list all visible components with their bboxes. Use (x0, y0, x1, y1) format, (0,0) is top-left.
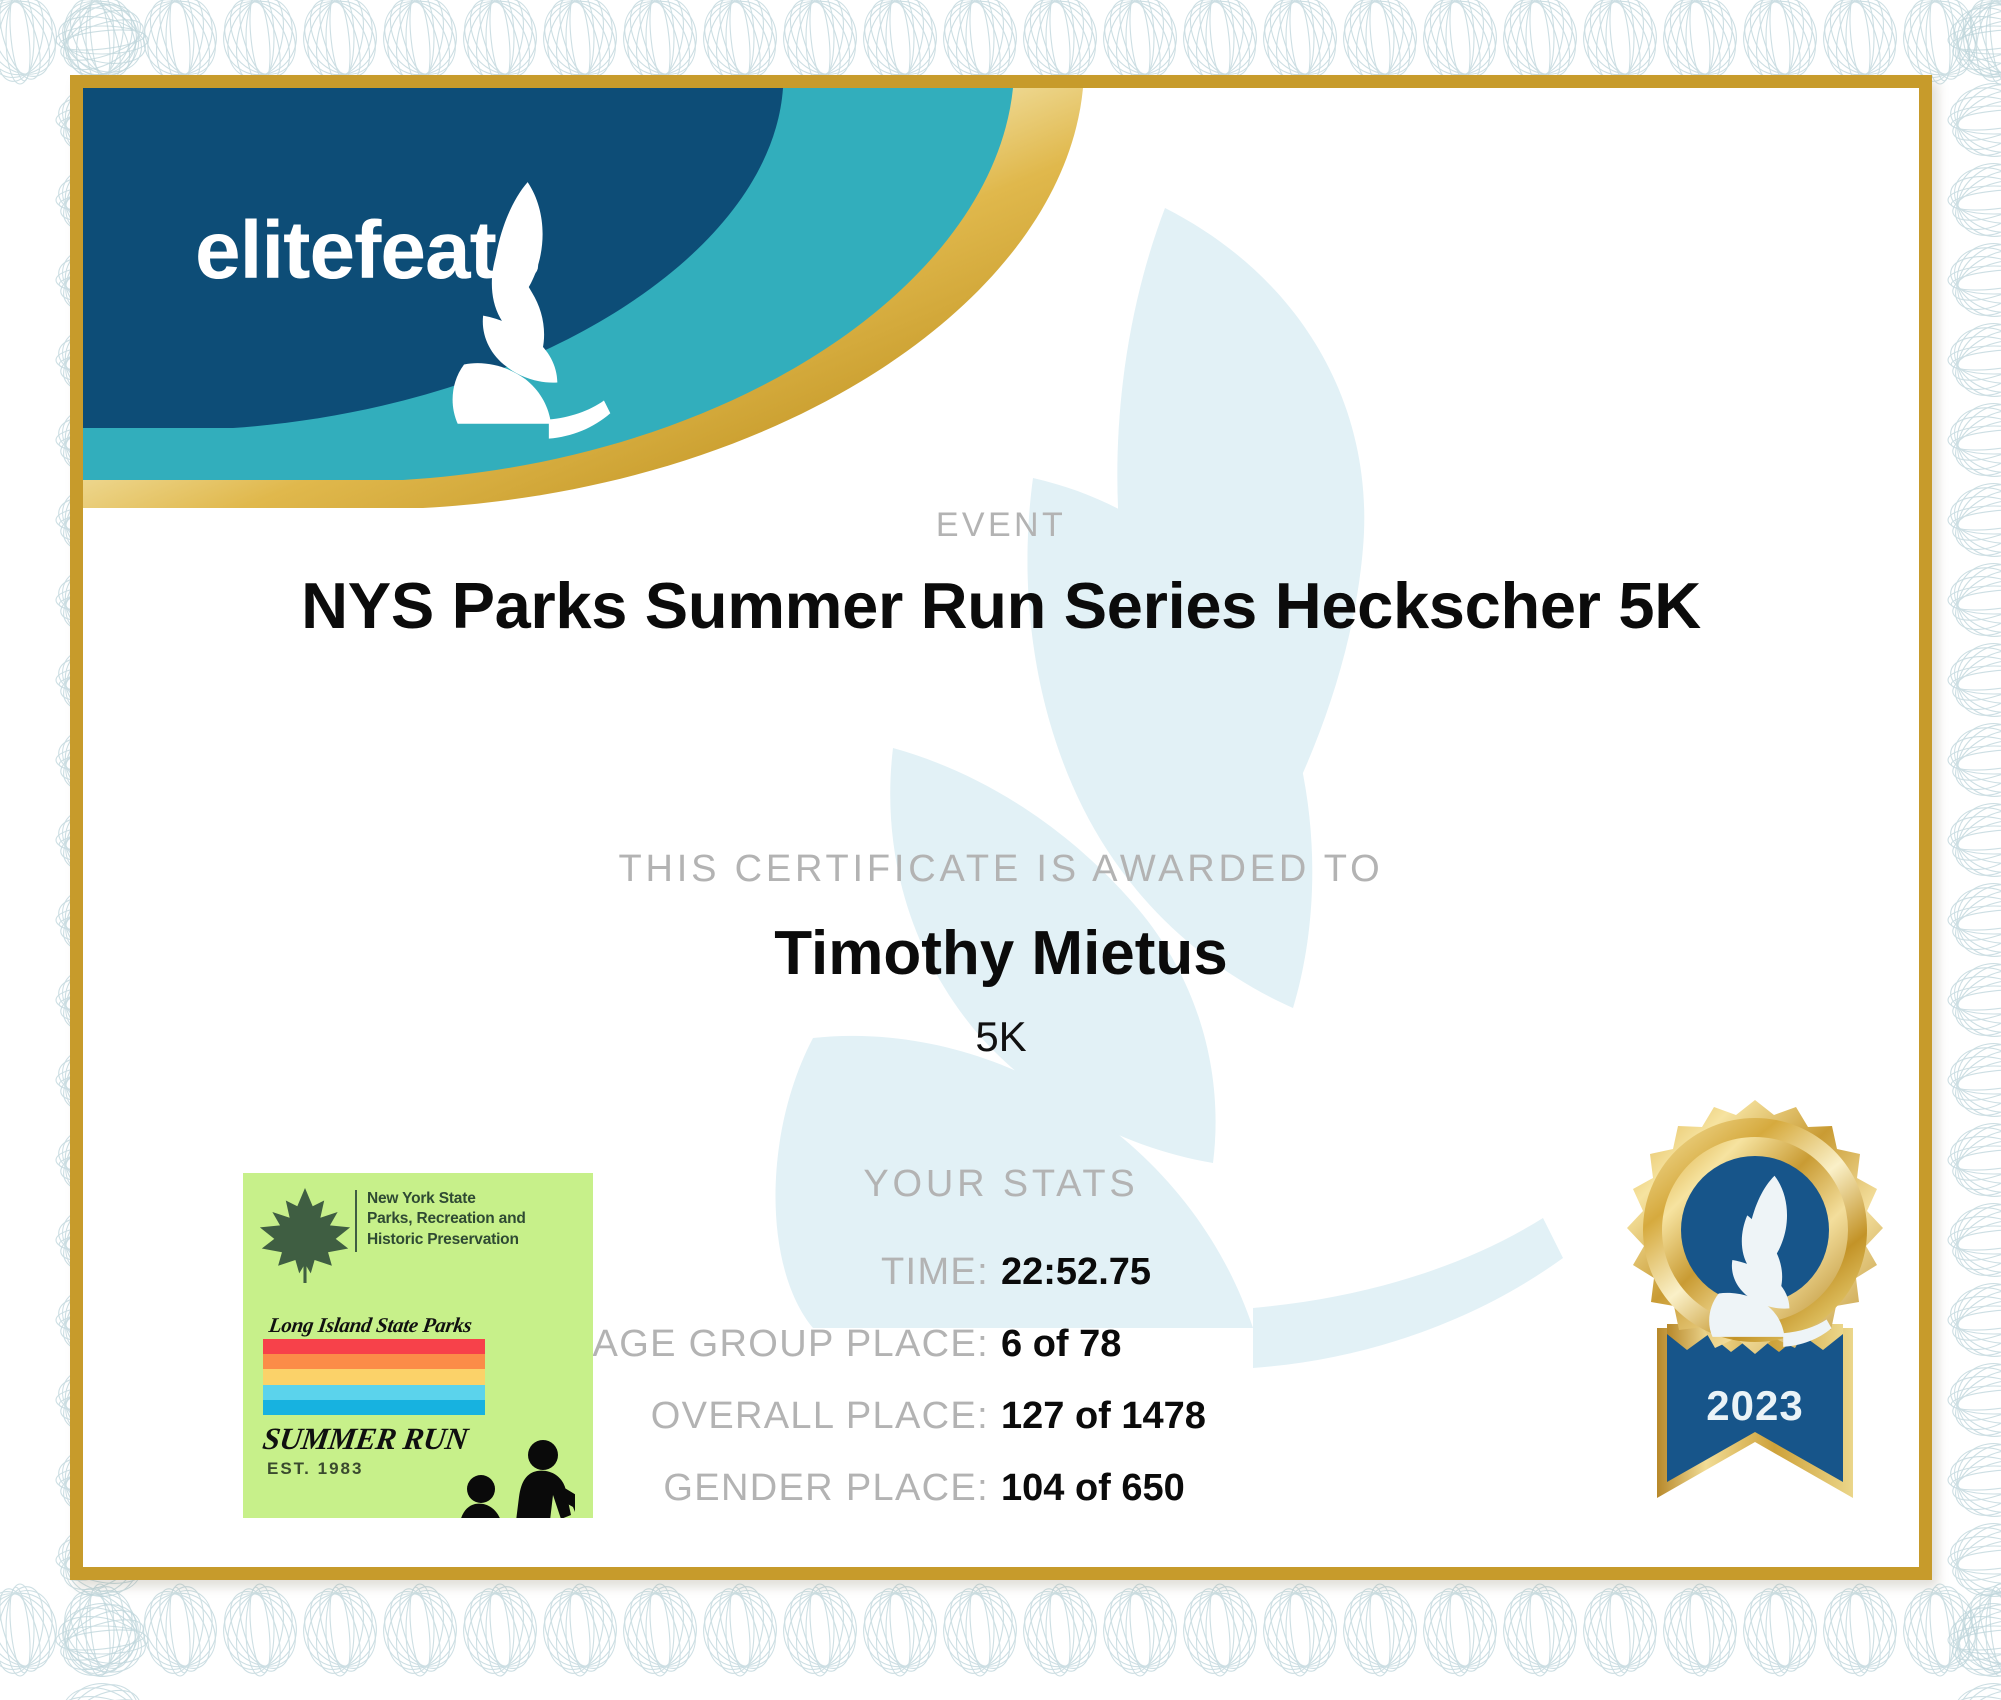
summer-run-badge: Long Island State Parks SUMMER RUN EST. … (261, 1313, 571, 1508)
agency-line-3: Historic Preservation (367, 1230, 526, 1250)
certificate-page: elitefeats EVENT NYS Parks Summer Run Se… (0, 0, 2001, 1700)
finisher-medal-rosette: 2023 (1605, 1098, 1905, 1568)
caption-line-1: FINISHER (1585, 1566, 1925, 1580)
finisher-certificate-caption: FINISHER CERTIFICATE (1585, 1566, 1925, 1580)
event-title: NYS Parks Summer Run Series Heckscher 5K (83, 568, 1919, 643)
certificate-content: EVENT NYS Parks Summer Run Series Hecksc… (83, 88, 1919, 1567)
agency-name: New York State Parks, Recreation and His… (367, 1185, 526, 1250)
agency-line-1: New York State (367, 1189, 526, 1209)
runners-silhouette-icon (425, 1435, 575, 1518)
stat-value-overall-place: 127 of 1478 (1001, 1395, 1656, 1438)
agency-line-2: Parks, Recreation and (367, 1209, 526, 1229)
recipient-name: Timothy Mietus (83, 918, 1919, 989)
stat-value-age-group-place: 6 of 78 (1001, 1323, 1656, 1366)
stat-value-gender-place: 104 of 650 (1001, 1467, 1656, 1510)
awarded-to-label: THIS CERTIFICATE IS AWARDED TO (83, 848, 1919, 891)
logo-divider (355, 1190, 357, 1252)
event-label: EVENT (83, 506, 1919, 545)
nys-parks-summer-run-logo: New York State Parks, Recreation and His… (243, 1173, 593, 1518)
series-name: Long Island State Parks (267, 1313, 473, 1338)
race-distance: 5K (83, 1013, 1919, 1061)
maple-leaf-icon (257, 1185, 353, 1285)
rainbow-stripes-icon (263, 1339, 485, 1415)
stat-value-time: 22:52.75 (1001, 1251, 1656, 1294)
established-text: EST. 1983 (267, 1459, 363, 1479)
certificate-frame: elitefeats EVENT NYS Parks Summer Run Se… (70, 75, 1932, 1580)
medal-year: 2023 (1706, 1382, 1803, 1429)
medal-disc (1627, 1100, 1883, 1354)
